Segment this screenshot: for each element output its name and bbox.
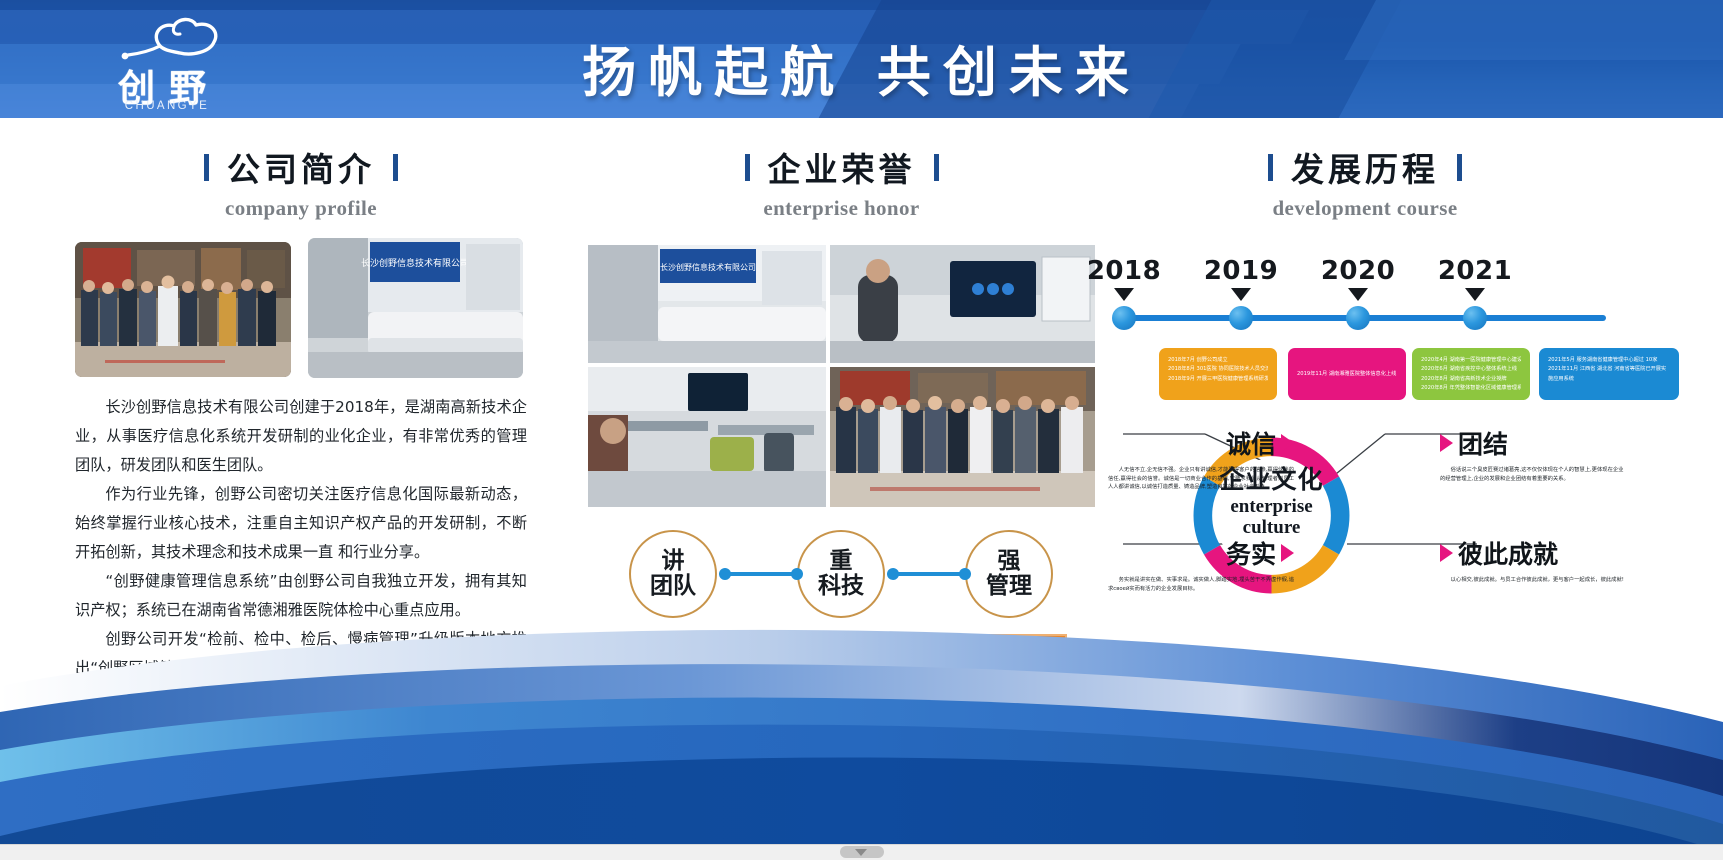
- timeline-line: 2019年11月 湖南湘雅医院整体信息化上线: [1297, 370, 1397, 379]
- office-reception-photo: 长沙创野信息技术有限公司: [308, 238, 523, 378]
- arrow-right-icon: [1440, 544, 1453, 562]
- section-heading-development-course: 发展历程 development course: [1130, 143, 1600, 221]
- culture-title: 诚信: [1226, 425, 1276, 461]
- connector-dot: [887, 568, 899, 580]
- section-title-cn: 企业荣誉: [768, 143, 916, 191]
- timeline-card-2018: 2018年7月 创野公司成立 2018年8月 301医院 协同医院技术人员交流 …: [1159, 348, 1277, 400]
- timeline-line: 2020年8月 湖南省高新技术企业授牌: [1421, 375, 1521, 384]
- connector-dot: [791, 568, 803, 580]
- culture-item-mutual-achievement: 彼此成就 以心相交,彼此成就。与员工合作彼此成就，更与客户一起成长，彼此成就!: [1440, 535, 1626, 585]
- svg-text:长沙创野信息技术有限公司: 长沙创野信息技术有限公司: [361, 257, 469, 269]
- timeline-card-2019: 2019年11月 湖南湘雅医院整体信息化上线: [1288, 348, 1406, 400]
- heading-bar-left: [1268, 154, 1273, 181]
- honor-photo-group: [830, 367, 1095, 507]
- team-group-photo: [75, 242, 291, 377]
- timeline-line: 2020年6月 湖南省疾控中心整体系统上线: [1421, 365, 1521, 374]
- connector-dot: [959, 568, 971, 580]
- section-heading-company-profile: 公司简介 company profile: [75, 143, 527, 221]
- culture-title: 团结: [1458, 425, 1508, 461]
- timeline-line: 2021年5月 服务湖南省健康管理中心超过 10家: [1548, 356, 1670, 365]
- timeline-year-2021: 2021: [1425, 256, 1525, 286]
- timeline-line: 2020年4月 湖南第一医院健康管理中心建设: [1421, 356, 1521, 365]
- heading-bar-right: [934, 154, 939, 181]
- svg-text:长沙创野信息技术有限公司: 长沙创野信息技术有限公司: [660, 262, 756, 272]
- timeline-year-2018: 2018: [1074, 256, 1174, 286]
- profile-paragraph: 长沙创野信息技术有限公司创建于2018年，是湖南高新技术企业，从事医疗信息化系统…: [75, 393, 527, 480]
- section-title-cn: 公司简介: [227, 143, 375, 191]
- connector-dot: [719, 568, 731, 580]
- arrow-right-icon: [1440, 434, 1453, 452]
- honor-photo-presentation: [830, 245, 1095, 363]
- section-title-en: company profile: [75, 196, 527, 221]
- timeline-dot-2020: [1346, 306, 1370, 330]
- node-connector-2: [891, 572, 967, 576]
- timeline-line: 2020年8月 年凭整体智能化区域健康管理系统: [1421, 384, 1521, 393]
- node-line1: 强: [998, 548, 1021, 574]
- culture-item-unity: 团结 俗话说三个臭皮匠赛过诸葛亮,这不仅仅体现在个人的智慧上,更体现在企业的经营…: [1440, 425, 1626, 483]
- timeline-caret-icon: [1114, 288, 1134, 301]
- node-line2: 科技: [818, 573, 864, 599]
- culture-item-pragmatism: 务实 务实就是讲实在做、实事求是。诚实做人,脚踏实地,埋头苦干不弄虚作假,追求с…: [1108, 535, 1294, 593]
- culture-body: 俗话说三个臭皮匠赛过诸葛亮,这不仅仅体现在个人的智慧上,更体现在企业的经营管理上…: [1440, 466, 1626, 483]
- horizontal-scrollbar[interactable]: [0, 844, 1723, 860]
- arrow-right-icon: [1281, 544, 1294, 562]
- timeline-dot-2021: [1463, 306, 1487, 330]
- culture-center-en1: enterprise: [1193, 496, 1350, 517]
- timeline-caret-icon: [1231, 288, 1251, 301]
- timeline-caret-icon: [1348, 288, 1368, 301]
- timeline-line: 2018年9月 开展三甲医院健康管理系统研发: [1168, 375, 1268, 384]
- culture-body: 人无信不立,企无信不强。企业只有讲诚信,才能赢得客户的信赖,赢得伙伴的信任,赢得…: [1108, 466, 1294, 492]
- heading-bar-left: [204, 154, 209, 181]
- timeline-caret-icon: [1465, 288, 1485, 301]
- heading-bar-right: [1457, 154, 1462, 181]
- timeline-year-2020: 2020: [1308, 256, 1408, 286]
- timeline-card-2020: 2020年4月 湖南第一医院健康管理中心建设 2020年6月 湖南省疾控中心整体…: [1412, 348, 1530, 400]
- node-line2: 管理: [986, 573, 1032, 599]
- honor-photo-office-lobby: 长沙创野信息技术有限公司: [588, 245, 826, 363]
- heading-bar-right: [393, 154, 398, 181]
- culture-body: 以心相交,彼此成就。与员工合作彼此成就，更与客户一起成长，彼此成就!: [1440, 576, 1626, 585]
- culture-title: 务实: [1226, 535, 1276, 571]
- timeline-card-2021: 2021年5月 服务湖南省健康管理中心超过 10家 2021年11月 江西省 湖…: [1539, 348, 1679, 400]
- page-title: 扬帆起航 共创未来: [0, 28, 1723, 107]
- honor-photo-workspace: [588, 367, 826, 507]
- section-title-en: enterprise honor: [588, 196, 1095, 221]
- page-banner: 创野 CHUANGYE 扬帆起航 共创未来: [0, 0, 1723, 118]
- chevron-down-icon[interactable]: [855, 849, 867, 856]
- timeline-line: 2018年8月 301医院 协同医院技术人员交流: [1168, 365, 1268, 374]
- culture-item-integrity: 诚信 人无信不立,企无信不强。企业只有讲诚信,才能赢得客户的信赖,赢得伙伴的信任…: [1108, 425, 1294, 492]
- timeline-dot-2019: [1229, 306, 1253, 330]
- node-line1: 讲: [662, 548, 685, 574]
- arrow-right-icon: [1281, 434, 1294, 452]
- heading-bar-left: [745, 154, 750, 181]
- culture-title: 彼此成就: [1458, 535, 1558, 571]
- culture-body: 务实就是讲实在做、实事求是。诚实做人,脚踏实地,埋头苦干不弄虚作假,追求свое…: [1108, 576, 1294, 593]
- timeline-year-2019: 2019: [1191, 256, 1291, 286]
- timeline-line: 2018年7月 创野公司成立: [1168, 356, 1268, 365]
- section-heading-enterprise-honor: 企业荣誉 enterprise honor: [588, 143, 1095, 221]
- node-connector-1: [723, 572, 799, 576]
- node-line2: 团队: [650, 573, 696, 599]
- bottom-wave-decoration: [0, 600, 1723, 860]
- profile-paragraph: 作为行业先锋，创野公司密切关注医疗信息化国际最新动态，始终掌握行业核心技术，注重…: [75, 480, 527, 567]
- node-line1: 重: [830, 548, 853, 574]
- section-title-cn: 发展历程: [1291, 143, 1439, 191]
- timeline-line: 2021年11月 江西省 湖北省 河南省等医院已开展实施应用系统: [1548, 365, 1670, 384]
- section-title-en: development course: [1130, 196, 1600, 221]
- timeline-dot-2018: [1112, 306, 1136, 330]
